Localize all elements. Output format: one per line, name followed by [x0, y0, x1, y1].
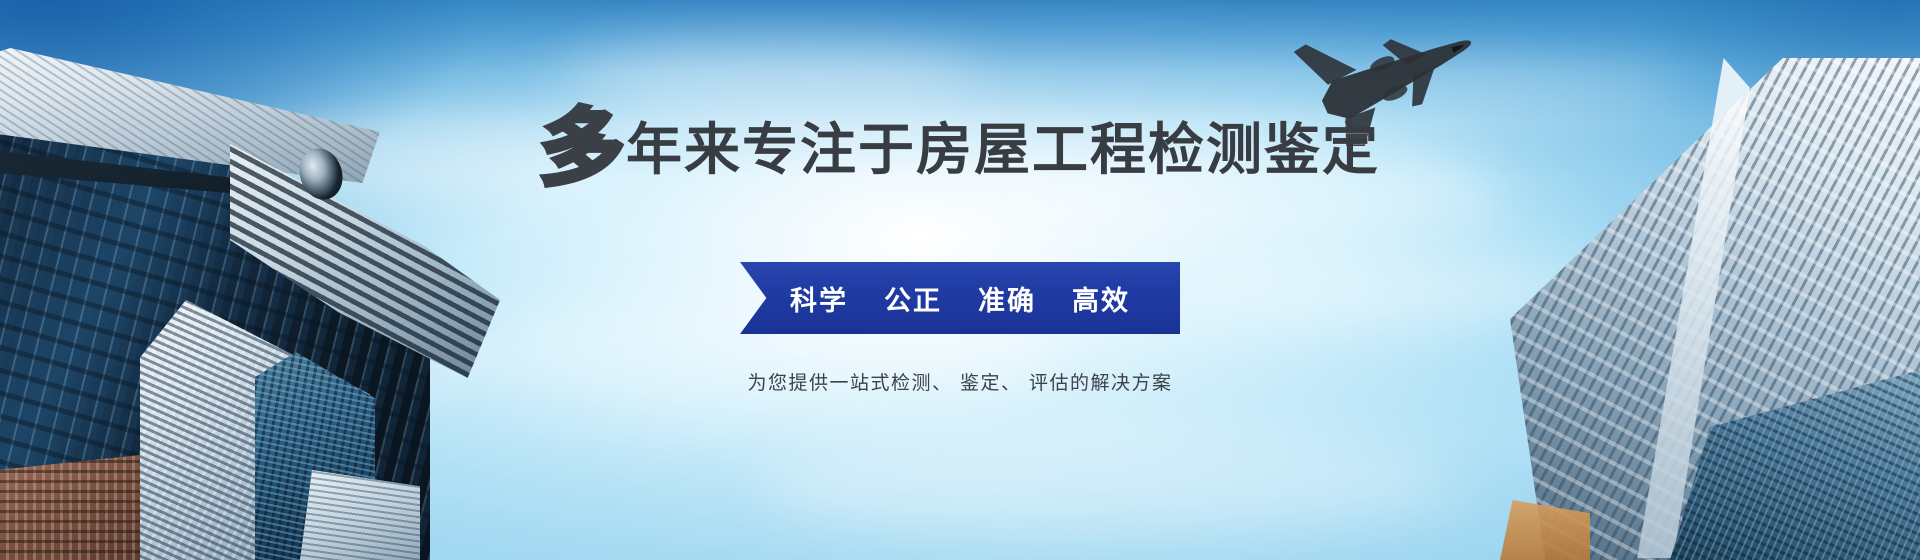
cloud	[420, 300, 1060, 410]
airplane-icon	[1292, 6, 1492, 146]
cloud	[560, 40, 980, 110]
left-brick-windows	[0, 455, 140, 560]
cloud	[760, 430, 1460, 540]
hero-banner: 多 年来专注于房屋工程检测鉴定 科学 公正 准确 高效 为您提供一站式检测、 鉴…	[0, 0, 1920, 560]
cloud	[980, 150, 1500, 245]
